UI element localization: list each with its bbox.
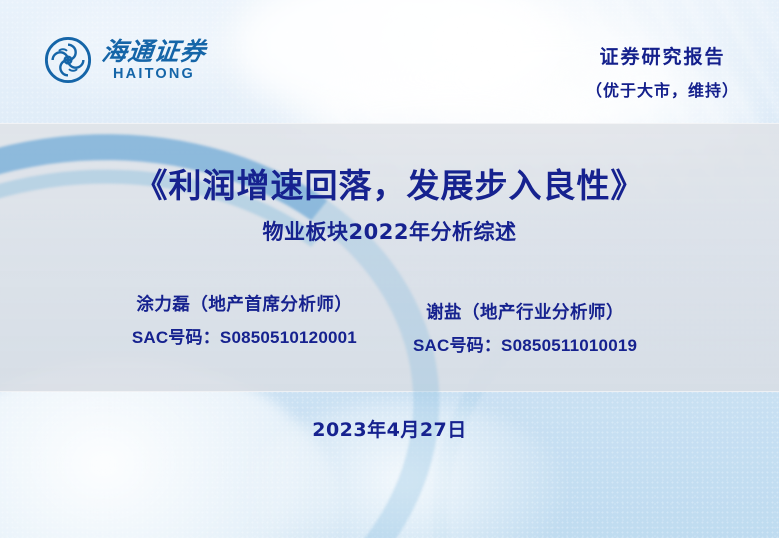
report-kind-label: 证券研究报告: [586, 42, 739, 69]
logo-company-name-cn: 海通证券: [100, 39, 207, 64]
report-date: 2023年4月27日: [0, 415, 779, 442]
page-subtitle: 物业板块2022年分析综述: [0, 216, 779, 246]
author-name: 谢盐（地产行业分析师）: [413, 299, 637, 324]
author-list: 涂力磊（地产首席分析师） SAC号码：S0850510120001 谢盐（地产行…: [0, 291, 779, 356]
author-entry: 涂力磊（地产首席分析师） SAC号码：S0850510120001: [132, 291, 357, 356]
report-cover-page: 海通证券 HAITONG 证券研究报告 （优于大市，维持） 《利润增速回落，发展…: [0, 0, 779, 538]
haitong-circular-emblem-icon: [44, 36, 92, 84]
author-sac-code: SAC号码：S0850510120001: [132, 323, 357, 348]
page-title: 《利润增速回落，发展步入良性》: [0, 159, 779, 207]
company-logo: 海通证券 HAITONG: [44, 36, 206, 84]
page-main: 《利润增速回落，发展步入良性》 物业板块2022年分析综述 涂力磊（地产首席分析…: [0, 123, 779, 392]
author-sac-code: SAC号码：S0850511010019: [413, 331, 637, 356]
author-name: 涂力磊（地产首席分析师）: [132, 291, 357, 316]
logo-wordmark: 海通证券 HAITONG: [102, 39, 206, 82]
logo-company-name-en: HAITONG: [113, 67, 195, 82]
report-rating-label: （优于大市，维持）: [586, 77, 739, 101]
author-entry: 谢盐（地产行业分析师） SAC号码：S0850511010019: [413, 299, 637, 356]
report-type-block: 证券研究报告 （优于大市，维持）: [586, 42, 739, 101]
page-header: 海通证券 HAITONG 证券研究报告 （优于大市，维持）: [0, 0, 779, 123]
